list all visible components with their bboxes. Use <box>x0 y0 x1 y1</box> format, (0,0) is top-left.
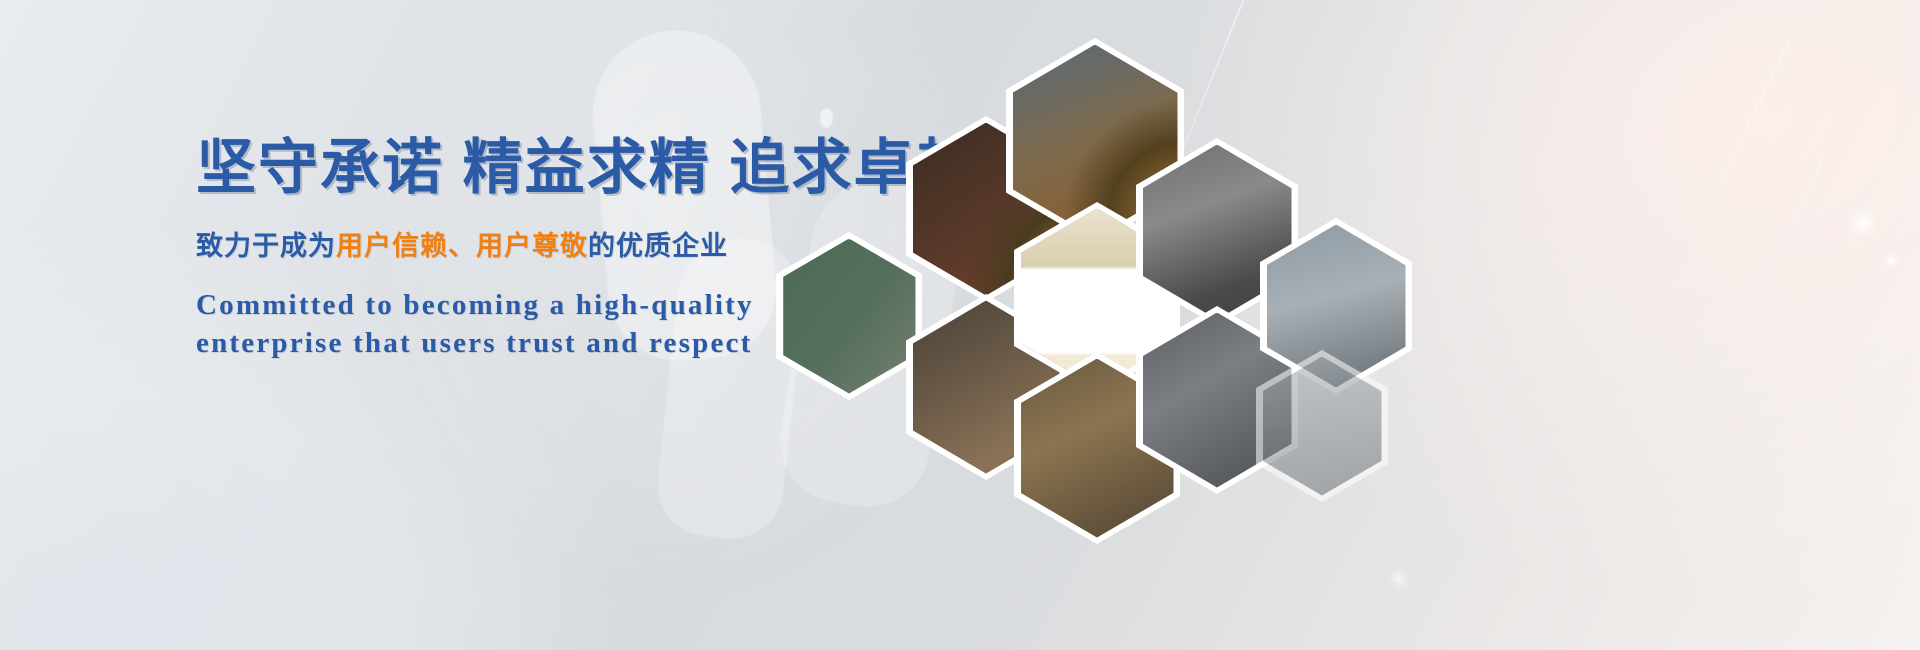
lens-flare-icon <box>1388 568 1410 590</box>
lens-flare-icon <box>1882 252 1900 270</box>
light-streak-icon <box>1696 40 1790 230</box>
photo-workshop-overview <box>1263 357 1382 496</box>
subtitle-highlight-respect: 用户尊敬 <box>476 231 588 261</box>
subtitle-tail: 的优质企业 <box>588 231 728 261</box>
lens-flare-icon <box>1846 206 1880 240</box>
photo-pipe-welding-floor <box>783 239 916 394</box>
subtitle-lead: 致力于成为 <box>196 231 336 261</box>
light-streak-icon <box>1758 157 1825 304</box>
subtitle-separator: 、 <box>448 231 476 261</box>
hexagon-photo-collage <box>770 50 1470 500</box>
company-culture-banner: 坚守承诺 精益求精 追求卓越 致力于成为用户信赖、用户尊敬的优质企业 Commi… <box>0 0 1920 650</box>
subtitle-highlight-trust: 用户信赖 <box>336 231 448 261</box>
hex-photo-pipe-welding-floor <box>776 232 922 400</box>
